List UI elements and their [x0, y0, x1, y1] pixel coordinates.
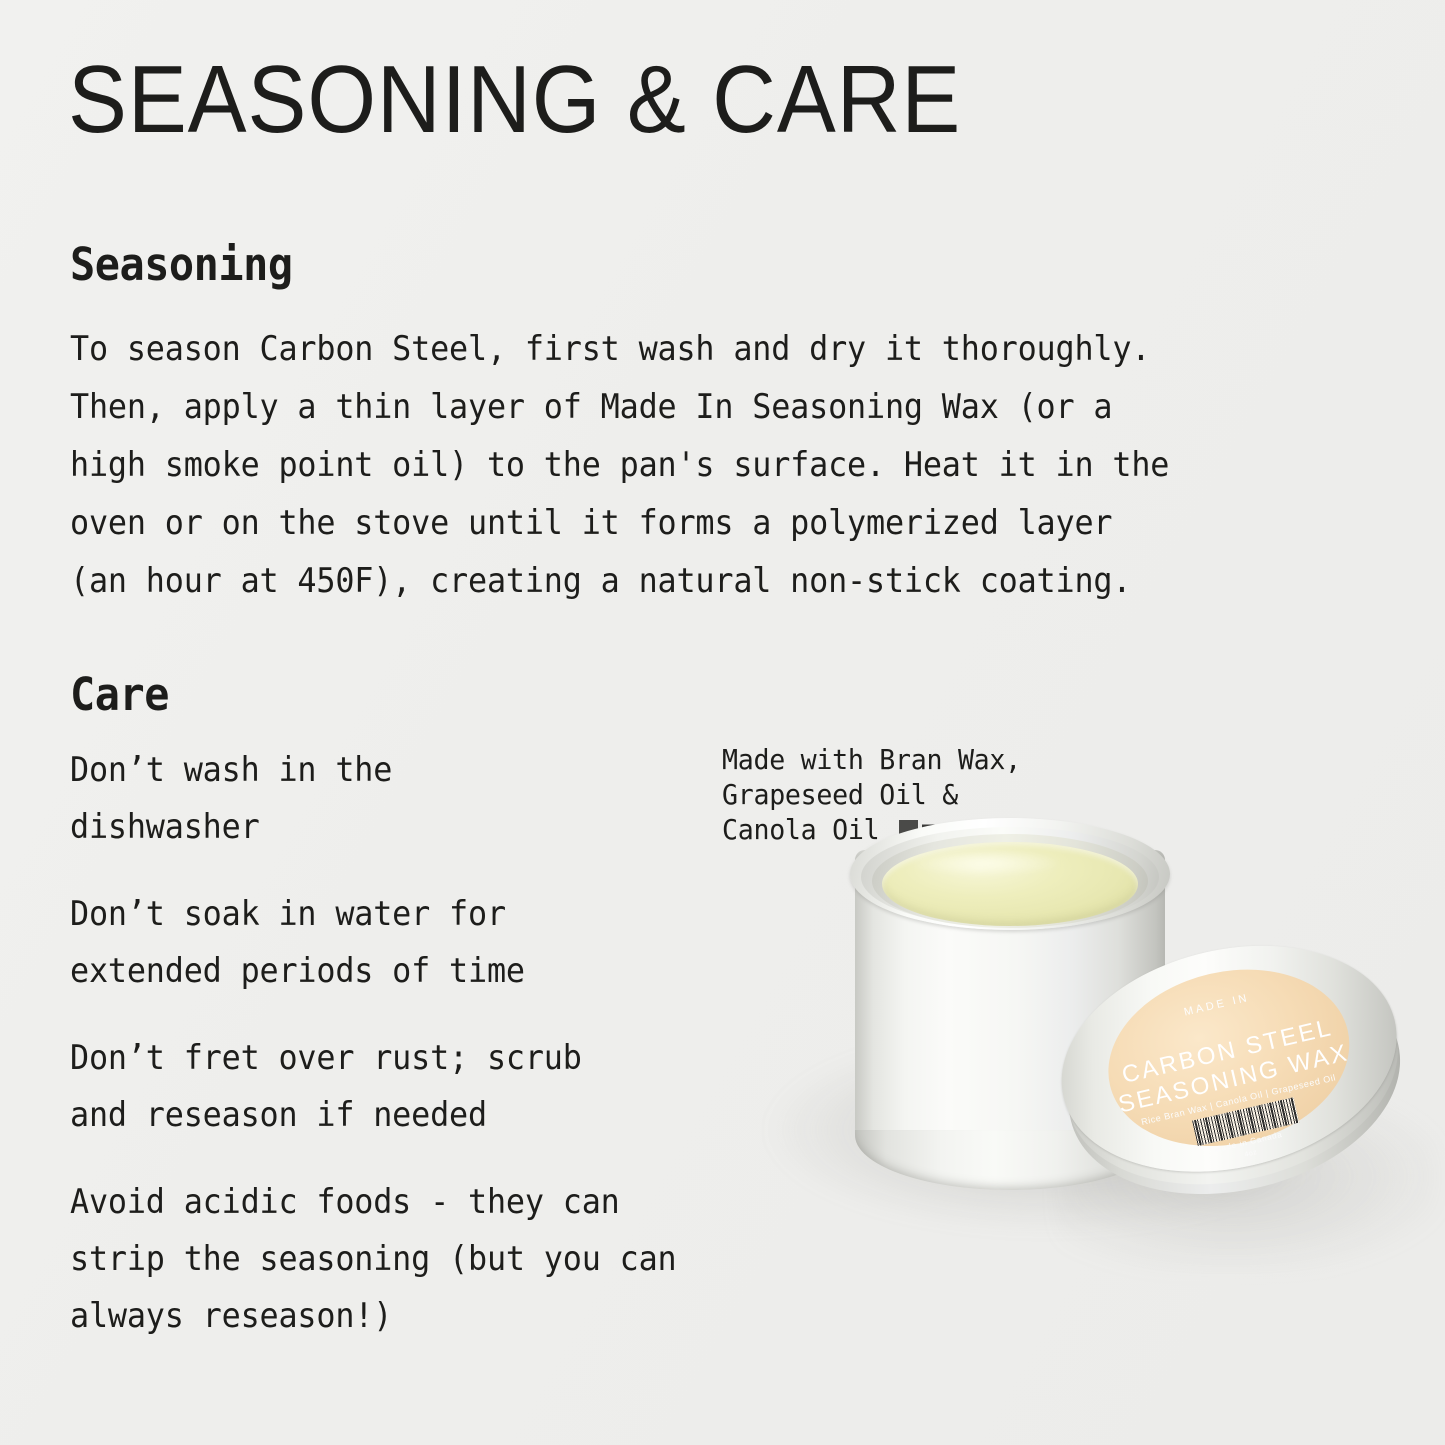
care-list: Don’t wash in the dishwasher Don’t soak … [70, 742, 770, 1375]
care-line: and reseason if needed [70, 1087, 725, 1144]
list-item: Don’t soak in water for extended periods… [70, 886, 725, 1000]
care-line: always reseason!) [70, 1288, 725, 1345]
wax-sheen [910, 850, 1060, 876]
page-title: SEASONING & CARE [68, 52, 961, 148]
care-line: dishwasher [70, 799, 725, 856]
product-care-card: SEASONING & CARE Seasoning To season Car… [0, 0, 1445, 1445]
list-item: Avoid acidic foods - they can strip the … [70, 1174, 725, 1345]
care-line: Don’t wash in the [70, 742, 725, 799]
care-line: Avoid acidic foods - they can [70, 1174, 725, 1231]
product-photo-seasoning-wax-tin: MADE IN CARBON STEEL SEASONING WAX Rice … [760, 800, 1420, 1270]
paragraph-line: Then, apply a thin layer of Made In Seas… [70, 378, 1286, 436]
list-item: Don’t wash in the dishwasher [70, 742, 725, 856]
section-heading-care: Care [70, 668, 169, 721]
paragraph-line: high smoke point oil) to the pan's surfa… [70, 436, 1286, 494]
paragraph-line: To season Carbon Steel, first wash and d… [70, 320, 1286, 378]
care-line: Don’t fret over rust; scrub [70, 1030, 725, 1087]
care-line: strip the seasoning (but you can [70, 1231, 725, 1288]
care-line: extended periods of time [70, 943, 725, 1000]
seasoning-paragraph: To season Carbon Steel, first wash and d… [70, 320, 1286, 610]
callout-line: Made with Bran Wax, [722, 742, 1021, 777]
paragraph-line: oven or on the stove until it forms a po… [70, 494, 1286, 552]
section-heading-seasoning: Seasoning [70, 238, 293, 291]
care-line: Don’t soak in water for [70, 886, 725, 943]
paragraph-line: (an hour at 450F), creating a natural no… [70, 552, 1286, 610]
list-item: Don’t fret over rust; scrub and reseason… [70, 1030, 725, 1144]
